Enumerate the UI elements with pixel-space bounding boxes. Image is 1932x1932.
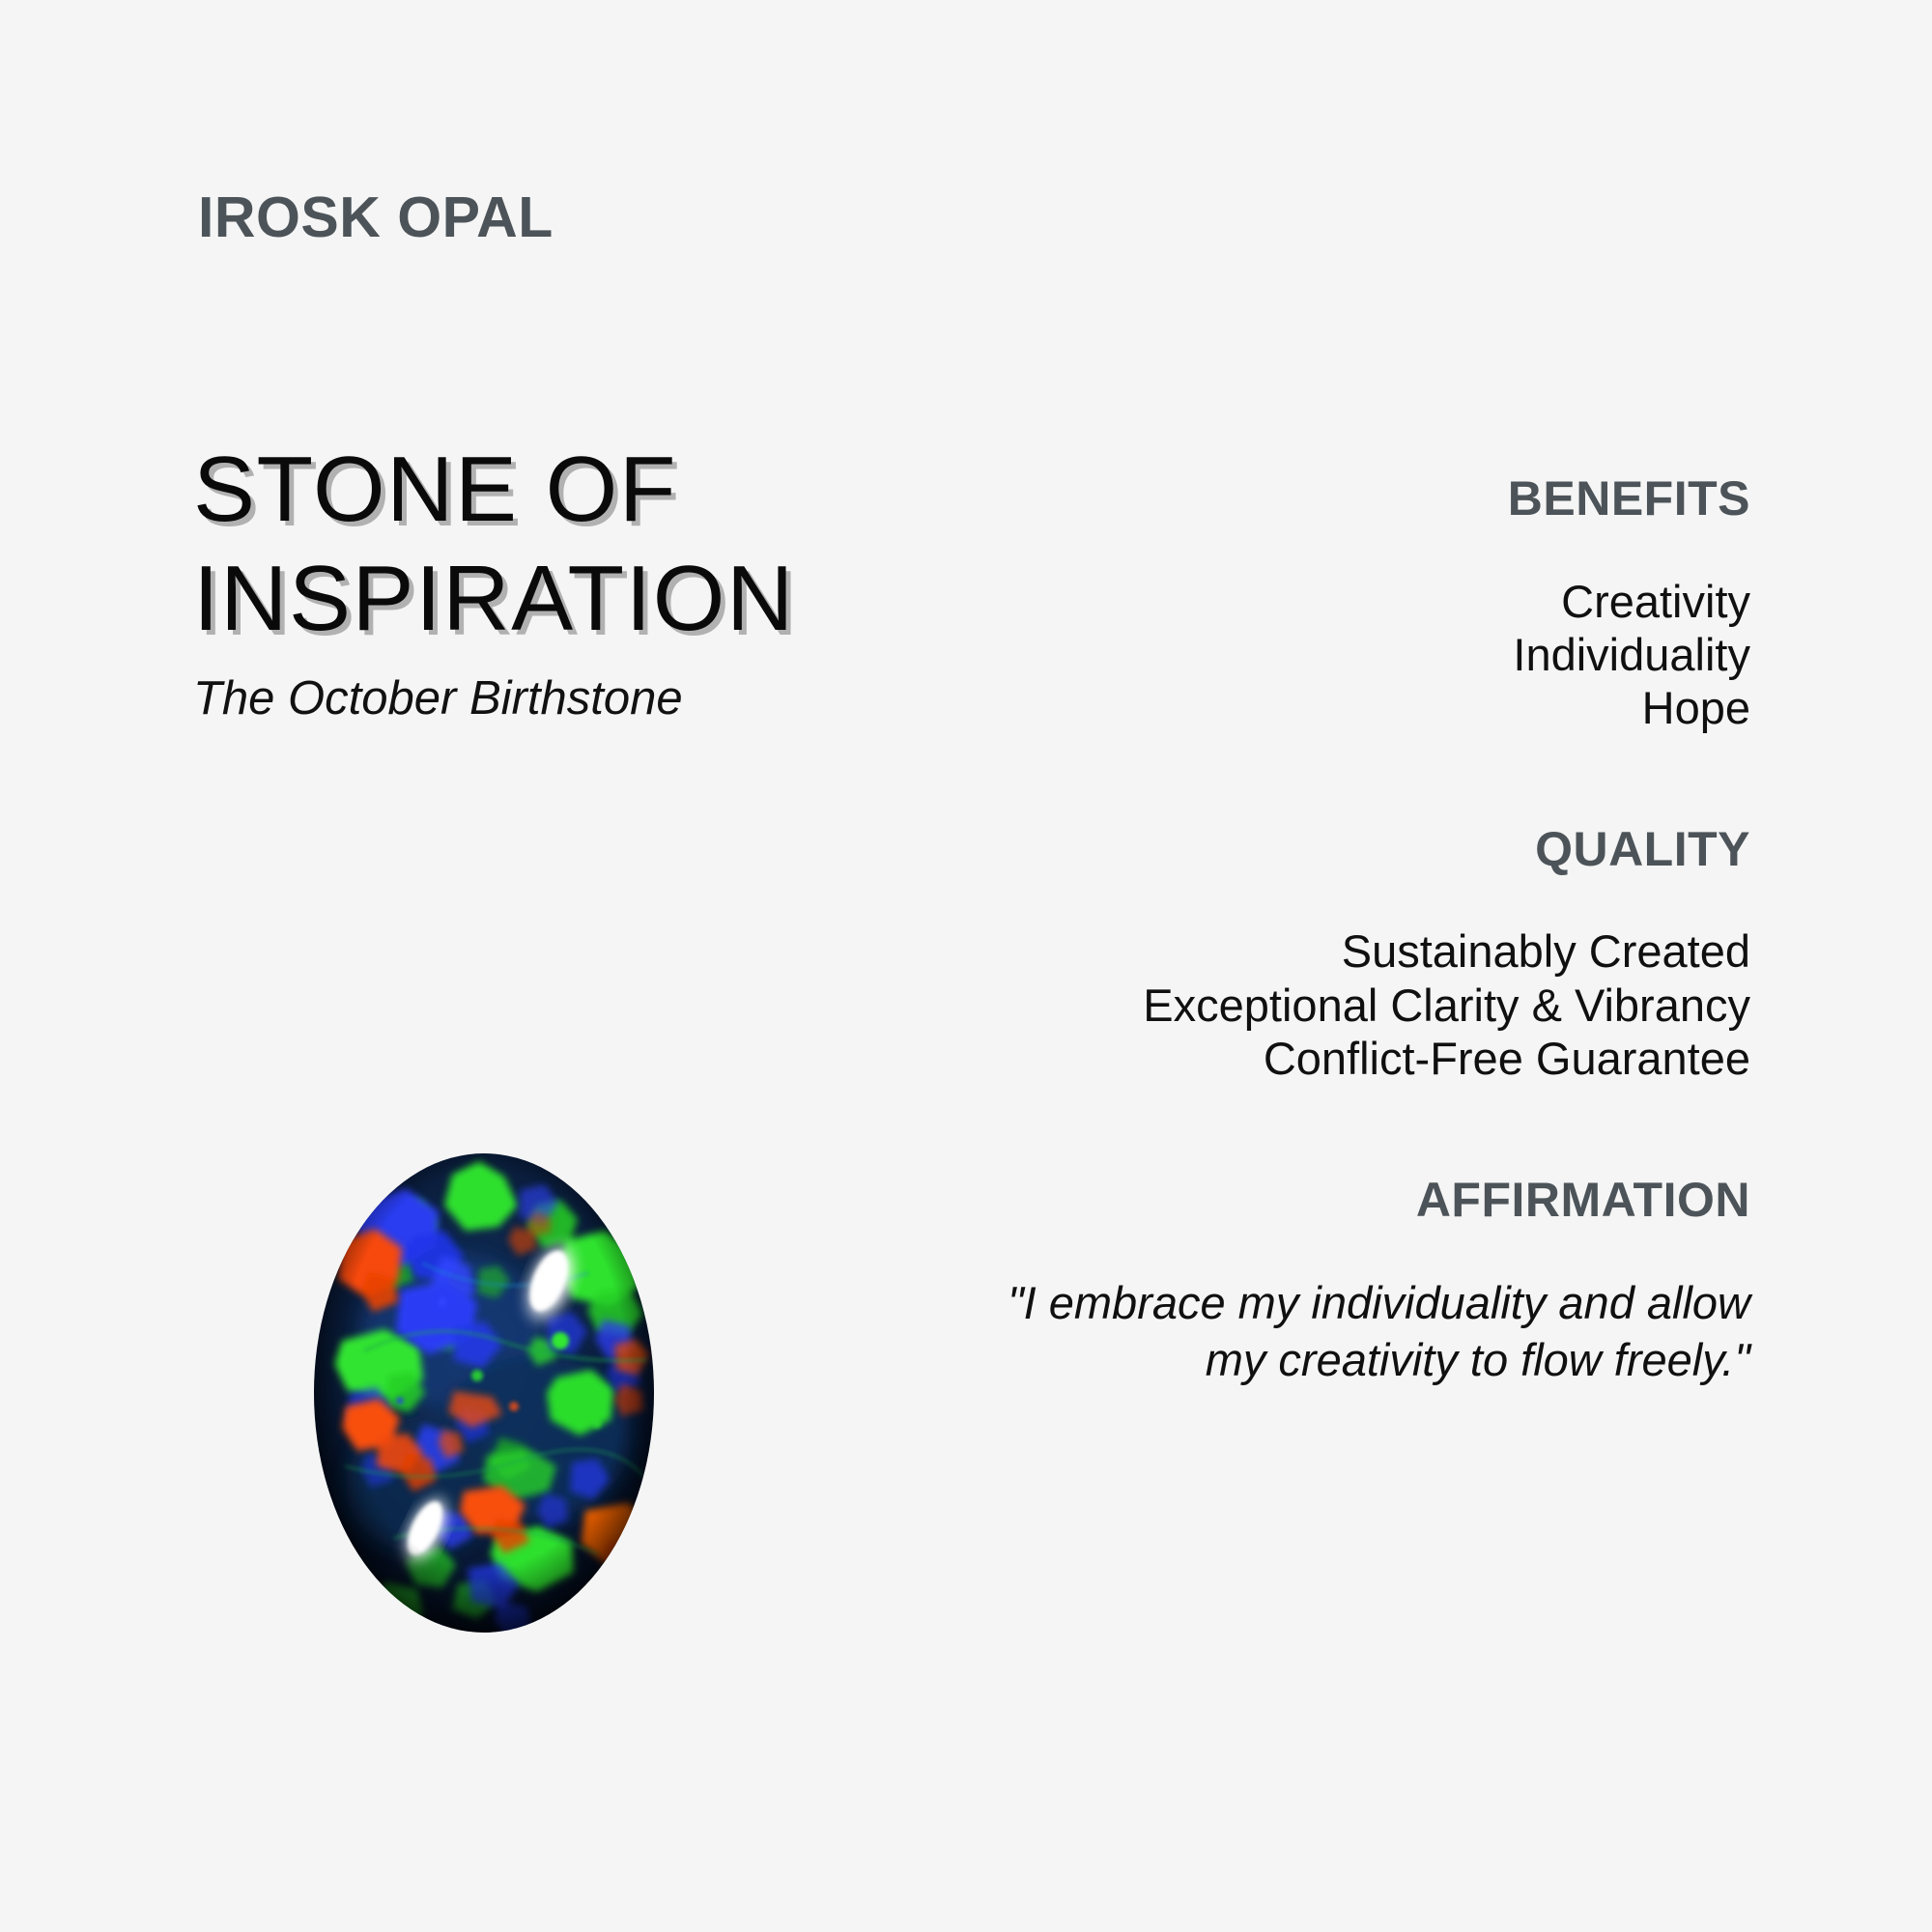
info-column: BENEFITS Creativity Individuality Hope Q…	[784, 473, 1750, 1389]
list-item: Conflict-Free Guarantee	[784, 1032, 1750, 1085]
quality-list: Sustainably Created Exceptional Clarity …	[784, 924, 1750, 1085]
list-item: Sustainably Created	[784, 924, 1750, 978]
brand-title: IROSK OPAL	[198, 189, 554, 246]
affirmation-quote-line-2: my creativity to flow freely."	[784, 1332, 1750, 1389]
list-item: Individuality	[784, 628, 1750, 681]
section-affirmation-heading: AFFIRMATION	[784, 1175, 1750, 1226]
gemstone-image	[307, 1148, 661, 1638]
list-item: Creativity	[784, 575, 1750, 628]
section-benefits: BENEFITS Creativity Individuality Hope	[784, 473, 1750, 735]
section-affirmation: AFFIRMATION "I embrace my individuality …	[784, 1175, 1750, 1389]
affirmation-quote-line-1: "I embrace my individuality and allow	[784, 1275, 1750, 1332]
affirmation-quote: "I embrace my individuality and allow my…	[784, 1275, 1750, 1389]
benefits-list: Creativity Individuality Hope	[784, 575, 1750, 735]
opal-cabochon-icon	[307, 1148, 661, 1638]
list-item: Exceptional Clarity & Vibrancy	[784, 979, 1750, 1032]
list-item: Hope	[784, 681, 1750, 734]
section-benefits-heading: BENEFITS	[784, 473, 1750, 525]
section-quality: QUALITY Sustainably Created Exceptional …	[784, 824, 1750, 1086]
section-quality-heading: QUALITY	[784, 824, 1750, 875]
product-info-card: IROSK OPAL STONE OF INSPIRATION The Octo…	[0, 0, 1932, 1932]
